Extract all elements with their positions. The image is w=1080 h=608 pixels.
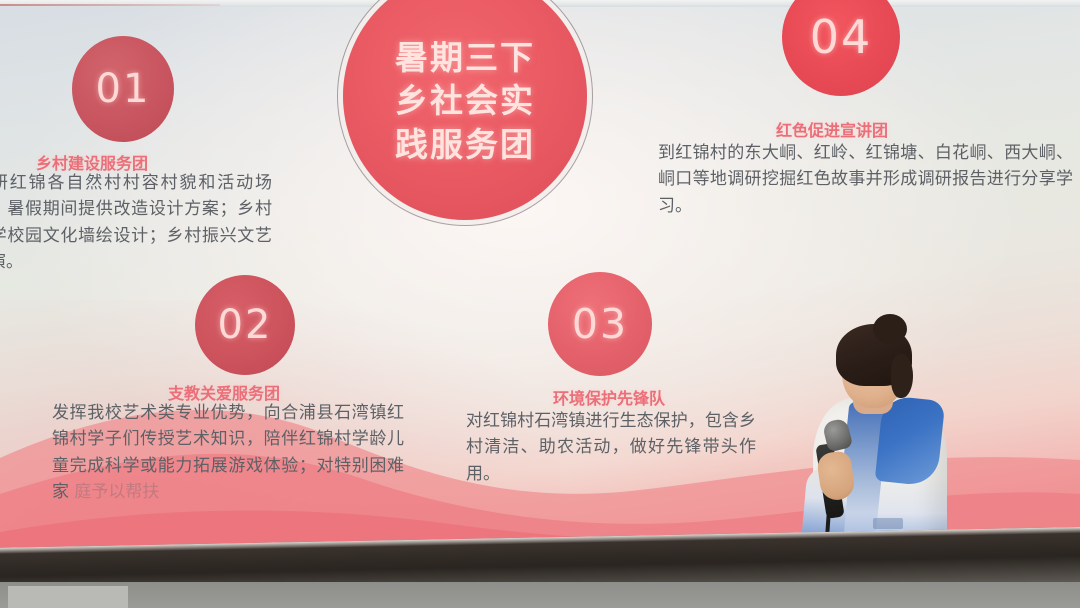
section-03-title: 环境保护先锋队 (553, 385, 665, 409)
section-02-number-badge: 02 (195, 275, 295, 375)
center-emblem-line-3: 践服务团 (395, 123, 535, 167)
center-emblem-line-2: 乡社会实 (395, 79, 535, 123)
room-floor (0, 582, 1080, 608)
section-02-body: 发挥我校艺术类专业优势，向合浦县石湾镇红锦村学子们传授艺术知识，陪伴红锦村学龄儿… (52, 400, 404, 505)
section-03-body: 对红锦村石湾镇进行生态保护，包含乡村清洁、助农活动，做好先锋带头作用。 (466, 408, 756, 487)
presenter-hair-side (891, 354, 913, 398)
section-03-number-badge: 03 (548, 272, 652, 376)
center-emblem-line-1: 暑期三下 (395, 36, 535, 80)
presenter-hair-bun (873, 314, 907, 344)
section-01-body: 调研红锦各自然村村容村貌和活动场所，暑假期间提供改造设计方案；乡村小学校园文化墙… (0, 170, 272, 275)
section-02-body-faded-text: 庭予以帮扶 (74, 482, 159, 502)
floor-panel (8, 586, 128, 608)
section-01-number-badge: 01 (72, 36, 174, 142)
section-04-body: 到红锦村的东大峒、红岭、红锦塘、白花峒、西大峒、峒口等地调研挖掘红色故事并形成调… (658, 140, 1073, 219)
screenshot-stage: 暑期三下 乡社会实 践服务团 01 乡村建设服务团 调研红锦各自然村村容村貌和活… (0, 0, 1080, 608)
section-04-title: 红色促进宣讲团 (776, 117, 888, 141)
center-emblem-text: 暑期三下 乡社会实 践服务团 (395, 36, 535, 167)
presenter-jacket-logo (873, 518, 903, 529)
